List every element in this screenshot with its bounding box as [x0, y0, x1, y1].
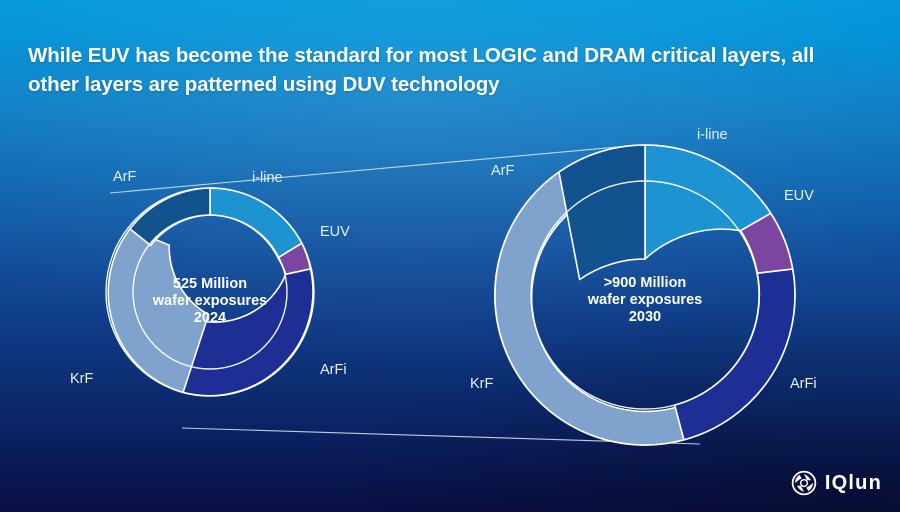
- donut-label-arf-2024: ArF: [113, 169, 137, 185]
- donut-chart-2024[interactable]: 525 Million wafer exposures 2024 i-line …: [70, 169, 350, 396]
- donut-label-euv-2030: EUV: [784, 188, 814, 204]
- donut-label-i-line-2024: i-line: [252, 170, 283, 186]
- slide-canvas: While EUV has become the standard for mo…: [0, 0, 900, 512]
- donut-center-unit-2030: wafer exposures: [587, 292, 702, 308]
- donut-center-year-2024: 2024: [194, 310, 226, 326]
- donut-label-euv-2024: EUV: [320, 224, 350, 240]
- donut-chart-2030[interactable]: >900 Million wafer exposures 2030 i-line…: [470, 127, 817, 445]
- donut-center-year-2030: 2030: [629, 309, 661, 325]
- donut-center-unit-2024: wafer exposures: [152, 293, 267, 309]
- donut-center-value-2030: >900 Million: [604, 275, 687, 291]
- aperture-icon: [791, 470, 817, 496]
- donut-label-arfi-2024: ArFi: [320, 362, 347, 378]
- donut-label-i-line-2030: i-line: [697, 127, 728, 143]
- donut-comparison-figure: 525 Million wafer exposures 2024 i-line …: [0, 0, 900, 512]
- donut-label-arf-2030: ArF: [491, 163, 515, 179]
- donut-label-krf-2024: KrF: [70, 371, 94, 387]
- donut-segment-arf-2030[interactable]: [559, 145, 645, 280]
- brand-logo: IQlun: [791, 470, 882, 496]
- donut-center-value-2024: 525 Million: [173, 276, 247, 292]
- logo-wordmark: IQlun: [825, 473, 882, 493]
- donut-label-krf-2030: KrF: [470, 376, 494, 392]
- donut-label-arfi-2030: ArFi: [790, 376, 817, 392]
